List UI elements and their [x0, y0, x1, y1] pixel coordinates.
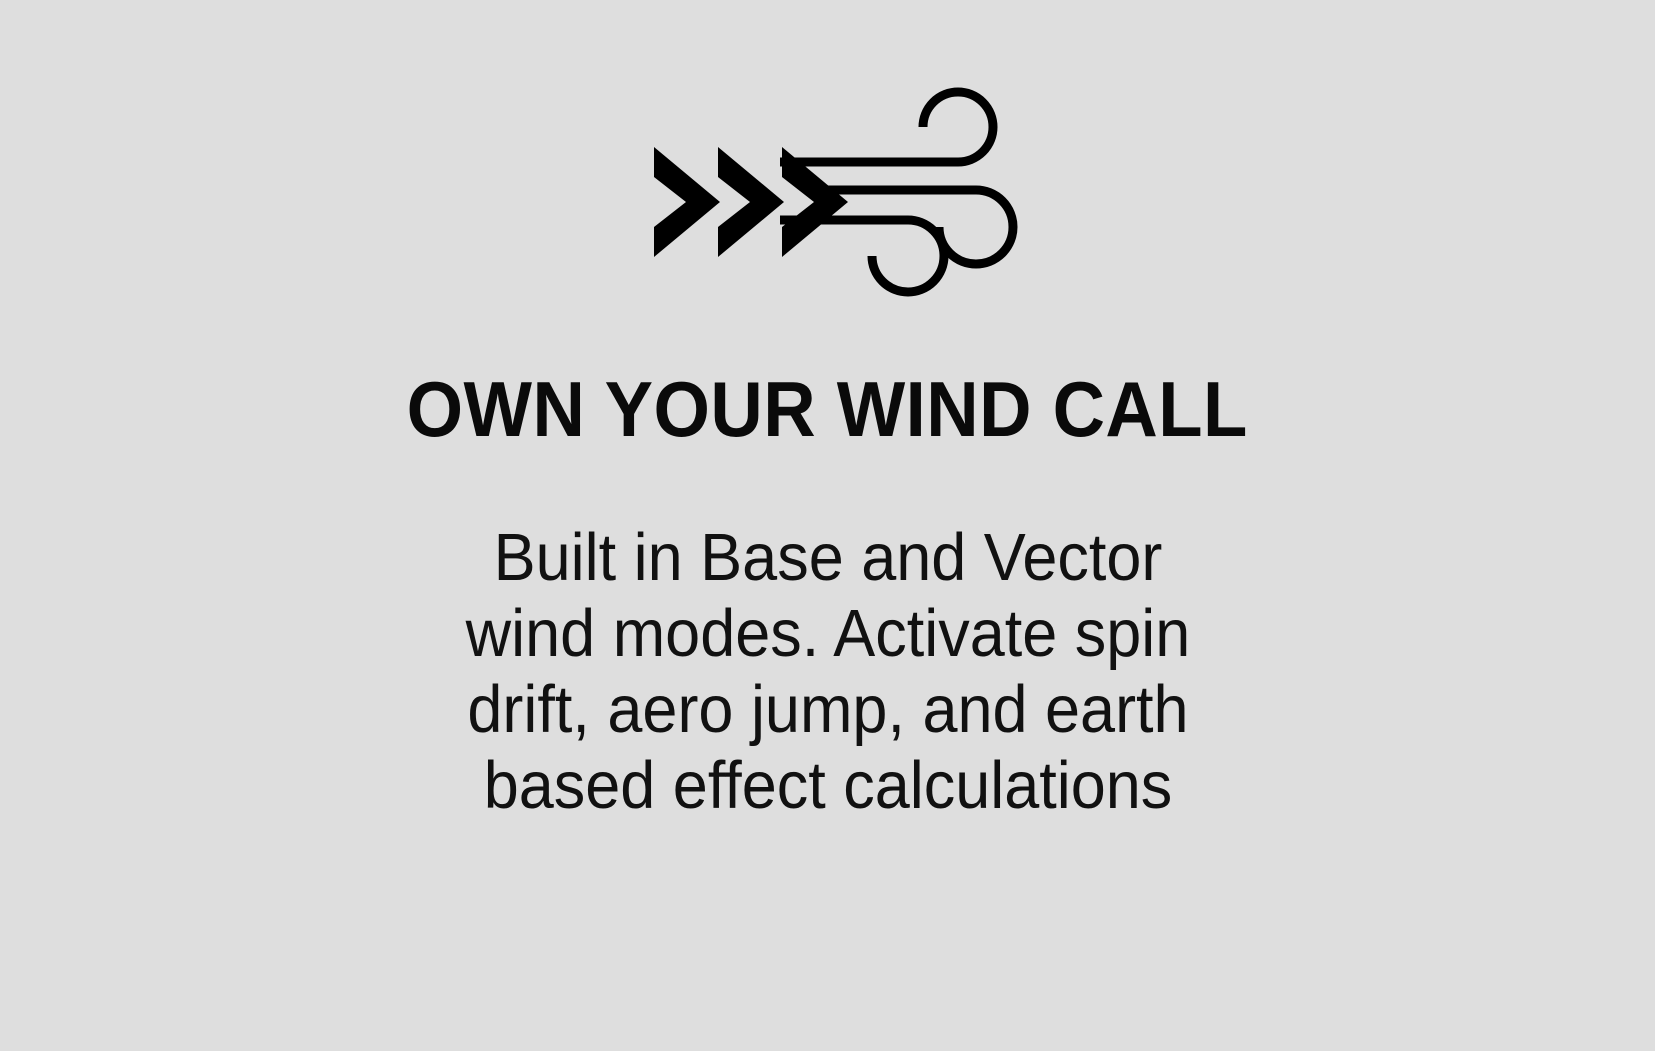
wind-icon	[608, 62, 1048, 312]
chevron-icon-1	[654, 147, 720, 257]
description-line: Built in Base and Vector	[358, 520, 1298, 596]
wind-stream-top	[780, 92, 993, 162]
chevron-icon-2	[718, 147, 784, 257]
description-line: based effect calculations	[358, 748, 1298, 824]
description-line: wind modes. Activate spin	[358, 596, 1298, 672]
page-title: OWN YOUR WIND CALL	[407, 370, 1248, 448]
description-line: drift, aero jump, and earth	[358, 672, 1298, 748]
feature-card: OWN YOUR WIND CALL Built in Base and Vec…	[0, 0, 1655, 1051]
wind-icon-container	[608, 62, 1048, 312]
description-text: Built in Base and Vector wind modes. Act…	[358, 520, 1298, 824]
